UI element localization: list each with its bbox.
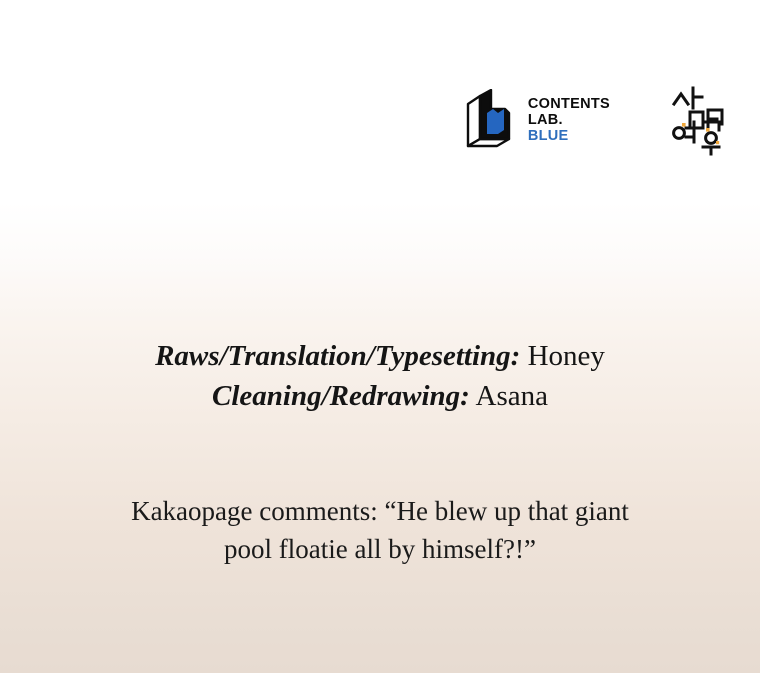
credit-line-2: Cleaning/Redrawing: Asana	[0, 376, 760, 416]
credit-name-2: Asana	[476, 380, 548, 412]
wordmark-line-blue: BLUE	[528, 128, 610, 144]
comment-line-2: pool floatie all by himself?!”	[0, 530, 760, 568]
contents-lab-wordmark: CONTENTS LAB. BLUE	[528, 96, 610, 145]
kakaopage-comment-block: Kakaopage comments: “He blew up that gia…	[0, 492, 760, 568]
credits-block: Raws/Translation/Typesetting: Honey Clea…	[0, 336, 760, 416]
wordmark-line-lab: LAB.	[528, 112, 610, 128]
scanlation-credits-page: CONTENTS LAB. BLUE	[0, 0, 760, 673]
credit-role-2: Cleaning/Redrawing:	[212, 380, 470, 412]
comment-line-1: Kakaopage comments: “He blew up that gia…	[0, 492, 760, 530]
wordmark-line-contents: CONTENTS	[528, 96, 610, 112]
credit-name-1: Honey	[528, 340, 605, 372]
samak-yeou-korean-logo-icon	[670, 84, 736, 156]
contents-lab-blue-logo: CONTENTS LAB. BLUE	[465, 89, 610, 151]
credit-line-1: Raws/Translation/Typesetting: Honey	[0, 336, 760, 376]
logo-area: CONTENTS LAB. BLUE	[465, 84, 736, 156]
contents-lab-cube-icon	[465, 89, 517, 151]
credit-role-1: Raws/Translation/Typesetting:	[155, 340, 520, 372]
